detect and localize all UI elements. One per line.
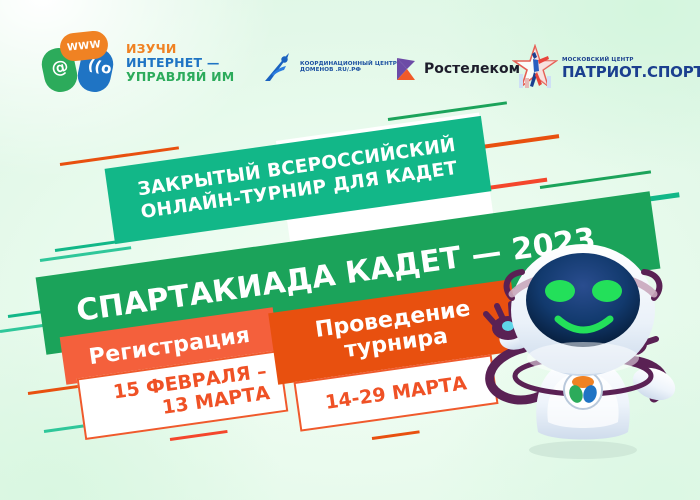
rostelecom-wordmark: Ростелеком: [424, 61, 520, 77]
coordination-center-mark: [262, 50, 296, 84]
cc-line-2: ДОМЕНОВ .RU/.РФ: [300, 67, 397, 73]
partner-logo-strip: @ ((o WWW ИЗУЧИ ИНТЕРНЕТ — УПРАВЛЯЙ ИМ: [0, 0, 700, 110]
izuchi-line-2: ИНТЕРНЕТ —: [126, 56, 234, 70]
mascot-right-forearm: [628, 362, 680, 406]
izuchi-internet-wordmark: ИЗУЧИ ИНТЕРНЕТ — УПРАВЛЯЙ ИМ: [126, 42, 234, 84]
logo-izuchi-internet[interactable]: @ ((o WWW ИЗУЧИ ИНТЕРНЕТ — УПРАВЛЯЙ ИМ: [40, 32, 234, 94]
logo-coordination-center[interactable]: КООРДИНАЦИОННЫЙ ЦЕНТР ДОМЕНОВ .RU/.РФ: [262, 50, 397, 84]
decor-line-green-2: [540, 170, 651, 189]
at-sign-icon: @: [50, 58, 70, 78]
www-badge-label: WWW: [67, 39, 102, 53]
patriot-sport-mainline: ПАТРИОТ.СПОРТ: [562, 65, 700, 80]
robot-mascot: [468, 236, 698, 486]
decor-line-orange-8: [372, 430, 420, 440]
logo-rostelecom[interactable]: Ростелеком: [395, 56, 520, 82]
tournament-date: 14-29 МАРТА: [324, 372, 468, 414]
decor-line-orange-7: [170, 430, 228, 441]
decor-line-teal-4: [40, 246, 132, 262]
mascot-left-eye: [545, 280, 575, 302]
coordination-center-wordmark: КООРДИНАЦИОННЫЙ ЦЕНТР ДОМЕНОВ .RU/.РФ: [300, 61, 397, 74]
mascot-right-eye: [592, 280, 622, 302]
promo-banner: @ ((o WWW ИЗУЧИ ИНТЕРНЕТ — УПРАВЛЯЙ ИМ: [0, 0, 700, 500]
mascot-head-highlight: [527, 342, 639, 374]
izuchi-line-3: УПРАВЛЯЙ ИМ: [126, 70, 234, 84]
izuchi-internet-mark: @ ((o WWW: [40, 32, 116, 94]
izuchi-line-1: ИЗУЧИ: [126, 42, 234, 56]
logo-patriot-sport[interactable]: МОСКОВСКИЙ ЦЕНТР ПАТРИОТ.СПОРТ: [512, 44, 700, 94]
mascot-shadow: [529, 441, 637, 459]
rostelecom-mark: [395, 56, 417, 82]
patriot-sport-wordmark: МОСКОВСКИЙ ЦЕНТР ПАТРИОТ.СПОРТ: [562, 58, 700, 81]
patriot-sport-mark: [512, 44, 558, 94]
wifi-icon: ((o: [86, 57, 113, 77]
mascot-chest-badge: [564, 371, 602, 409]
